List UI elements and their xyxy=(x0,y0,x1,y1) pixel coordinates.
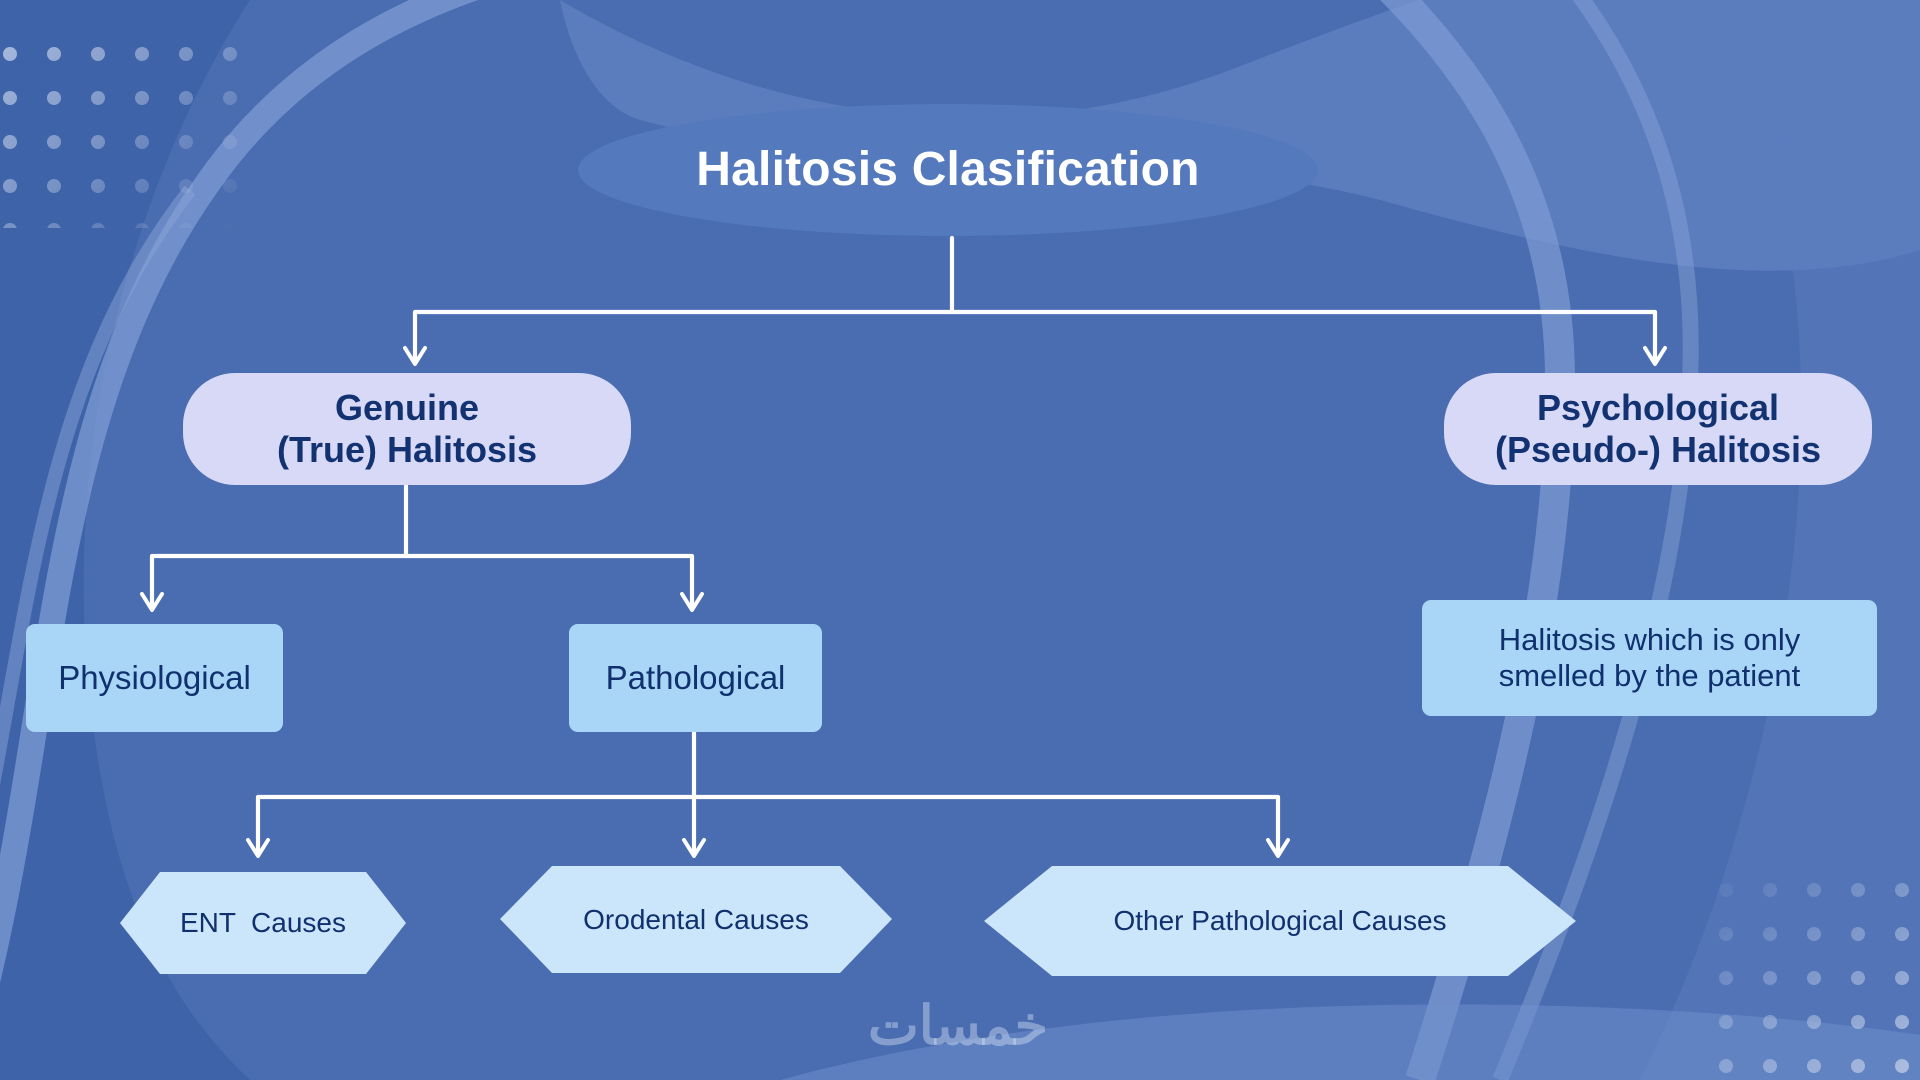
psych-desc-line1: Halitosis which is only xyxy=(1499,622,1801,657)
dot-grid-bottom-right xyxy=(1690,880,1920,1080)
node-physiological[interactable]: Physiological xyxy=(26,624,283,732)
node-orodental-causes[interactable]: Orodental Causes xyxy=(496,862,896,977)
dot-grid-top-left xyxy=(0,18,240,228)
node-other-pathological-causes[interactable]: Other Pathological Causes xyxy=(980,862,1580,980)
node-ent-causes-label: ENT Causes xyxy=(116,868,410,978)
node-psychological-line1: Psychological xyxy=(1537,387,1779,428)
node-psychological-pseudo-halitosis[interactable]: Psychological (Pseudo-) Halitosis xyxy=(1444,373,1872,485)
node-genuine-line2: (True) Halitosis xyxy=(277,429,537,470)
node-psychological-description: Halitosis which is only smelled by the p… xyxy=(1422,600,1877,716)
node-genuine-line1: Genuine xyxy=(335,387,479,428)
node-orodental-causes-label: Orodental Causes xyxy=(496,862,896,977)
node-genuine-true-halitosis[interactable]: Genuine (True) Halitosis xyxy=(183,373,631,485)
node-other-pathological-causes-label: Other Pathological Causes xyxy=(980,862,1580,980)
psych-desc-line2: smelled by the patient xyxy=(1499,658,1801,693)
node-pathological[interactable]: Pathological xyxy=(569,624,822,732)
node-psychological-line2: (Pseudo-) Halitosis xyxy=(1495,429,1821,470)
diagram-canvas: Halitosis Clasification Genuine (True) H… xyxy=(0,0,1920,1080)
node-ent-causes[interactable]: ENT Causes xyxy=(116,868,410,978)
watermark: خمسات xyxy=(838,990,1078,1060)
diagram-title: Halitosis Clasification xyxy=(578,104,1318,236)
